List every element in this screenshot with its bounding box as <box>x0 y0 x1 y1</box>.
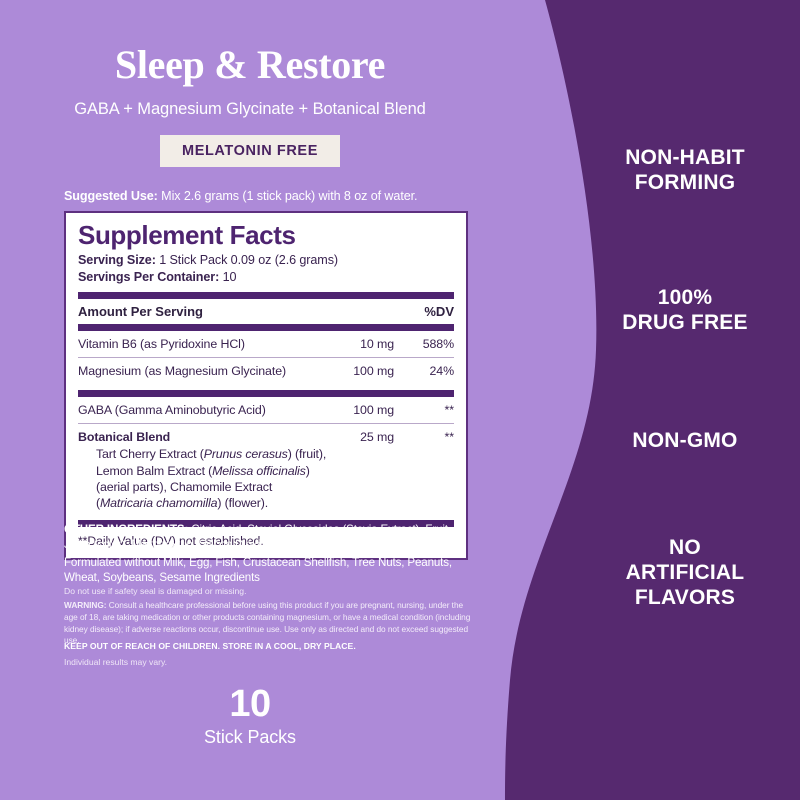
page-title: Sleep & Restore <box>0 44 500 86</box>
serving-size-value: 1 Stick Pack 0.09 oz (2.6 grams) <box>156 253 338 267</box>
safety-seal-text: Do not use if safety seal is damaged or … <box>64 586 476 597</box>
claim-4-line-3: FLAVORS <box>635 586 735 609</box>
suggested-use-text: Suggested Use: Mix 2.6 grams (1 stick pa… <box>64 189 474 203</box>
other-ingredients-text: OTHER INGREDIENTS: Citric Acid, Steviol … <box>64 522 476 553</box>
warning-label: WARNING: <box>64 600 106 610</box>
pack-count-label: Stick Packs <box>0 727 500 748</box>
nutrient-dv: 588% <box>408 337 454 351</box>
blend-line-4: (Matricaria chamomilla) (flower). <box>96 496 268 510</box>
nutrient-dv: 24% <box>408 364 454 378</box>
nutrient-name: GABA (Gamma Aminobutyric Acid) <box>78 403 322 417</box>
label-front-panel: Sleep & Restore GABA + Magnesium Glycina… <box>0 0 500 800</box>
claim-2-line-2: DRUG FREE <box>622 311 747 334</box>
suggested-use-value: Mix 2.6 grams (1 stick pack) with 8 oz o… <box>158 189 418 203</box>
claim-non-habit-forming: NON-HABIT FORMING <box>570 145 800 195</box>
divider-bar-mid <box>78 390 454 397</box>
claim-4-line-1: NO <box>669 536 701 559</box>
divider-bar-top <box>78 292 454 299</box>
servings-per-container-row: Servings Per Container: 10 <box>78 269 454 286</box>
servings-per-container-value: 10 <box>219 270 236 284</box>
table-row: Botanical Blend 25 mg ** <box>78 424 454 446</box>
other-ingredients-label: OTHER INGREDIENTS: <box>64 523 188 536</box>
table-row: Magnesium (as Magnesium Glycinate) 100 m… <box>78 358 454 384</box>
badge-container: MELATONIN FREE <box>0 135 500 167</box>
nutrient-name: Magnesium (as Magnesium Glycinate) <box>78 364 322 378</box>
blend-line-1-pre: Tart Cherry Extract ( <box>96 447 204 461</box>
blend-line-2-latin: Melissa officinalis <box>212 464 306 478</box>
nutrient-dv: ** <box>408 403 454 417</box>
blend-line-1-latin: Prunus cerasus <box>204 447 288 461</box>
nutrient-amount: 100 mg <box>322 364 408 378</box>
amount-per-serving-header: Amount Per Serving <box>78 304 203 319</box>
claim-3-line-1: NON-GMO <box>632 429 737 452</box>
table-header-row: Amount Per Serving %DV <box>78 299 454 324</box>
blend-line-4-post: ) (flower). <box>217 496 268 510</box>
pack-count-number: 10 <box>0 685 500 723</box>
blend-line-2: Lemon Balm Extract (Melissa officinalis) <box>96 464 310 478</box>
formulated-without-text: Formulated without Milk, Egg, Fish, Crus… <box>64 555 476 586</box>
nutrient-amount: 10 mg <box>322 337 408 351</box>
nutrient-name: Vitamin B6 (as Pyridoxine HCl) <box>78 337 322 351</box>
status-badge: MELATONIN FREE <box>160 135 340 167</box>
blend-line-4-latin: Matricaria chamomilla <box>100 496 217 510</box>
individual-results-text: Individual results may vary. <box>64 657 476 667</box>
supplement-facts-title: Supplement Facts <box>78 222 454 249</box>
blend-dv: ** <box>408 430 454 444</box>
percent-dv-header: %DV <box>424 304 454 319</box>
blend-amount: 25 mg <box>322 430 408 444</box>
blend-line-3: (aerial parts), Chamomile Extract <box>96 480 272 494</box>
warning-body: Consult a healthcare professional before… <box>64 600 470 645</box>
claim-2-line-1: 100% <box>658 286 713 309</box>
divider-bar-under-header <box>78 324 454 331</box>
supplement-label-panel: Sleep & Restore GABA + Magnesium Glycina… <box>0 0 800 800</box>
serving-size-label: Serving Size: <box>78 253 156 267</box>
claim-4-line-2: ARTIFICIAL <box>626 561 745 584</box>
product-subtitle: GABA + Magnesium Glycinate + Botanical B… <box>0 100 500 119</box>
claim-1-line-1: NON-HABIT <box>625 146 745 169</box>
blend-line-2-pre: Lemon Balm Extract ( <box>96 464 212 478</box>
keep-out-of-reach-text: KEEP OUT OF REACH OF CHILDREN. STORE IN … <box>64 641 476 651</box>
blend-line-1-post: ) (fruit), <box>288 447 326 461</box>
claims-panel: NON-HABIT FORMING 100% DRUG FREE NON-GMO… <box>570 0 800 800</box>
suggested-use-label: Suggested Use: <box>64 189 158 203</box>
servings-per-container-label: Servings Per Container: <box>78 270 219 284</box>
nutrient-amount: 100 mg <box>322 403 408 417</box>
claim-non-gmo: NON-GMO <box>570 428 800 453</box>
claim-no-artificial-flavors: NO ARTIFICIAL FLAVORS <box>570 535 800 611</box>
blend-ingredients-list: Tart Cherry Extract (Prunus cerasus) (fr… <box>78 446 454 518</box>
claim-drug-free: 100% DRUG FREE <box>570 285 800 335</box>
table-row: Vitamin B6 (as Pyridoxine HCl) 10 mg 588… <box>78 331 454 357</box>
blend-line-2-post: ) <box>306 464 310 478</box>
claim-1-line-2: FORMING <box>635 171 736 194</box>
blend-name: Botanical Blend <box>78 430 322 444</box>
serving-size-row: Serving Size: 1 Stick Pack 0.09 oz (2.6 … <box>78 252 454 269</box>
blend-line-1: Tart Cherry Extract (Prunus cerasus) (fr… <box>96 447 326 461</box>
table-row: GABA (Gamma Aminobutyric Acid) 100 mg ** <box>78 397 454 423</box>
supplement-facts-box: Supplement Facts Serving Size: 1 Stick P… <box>64 211 468 560</box>
